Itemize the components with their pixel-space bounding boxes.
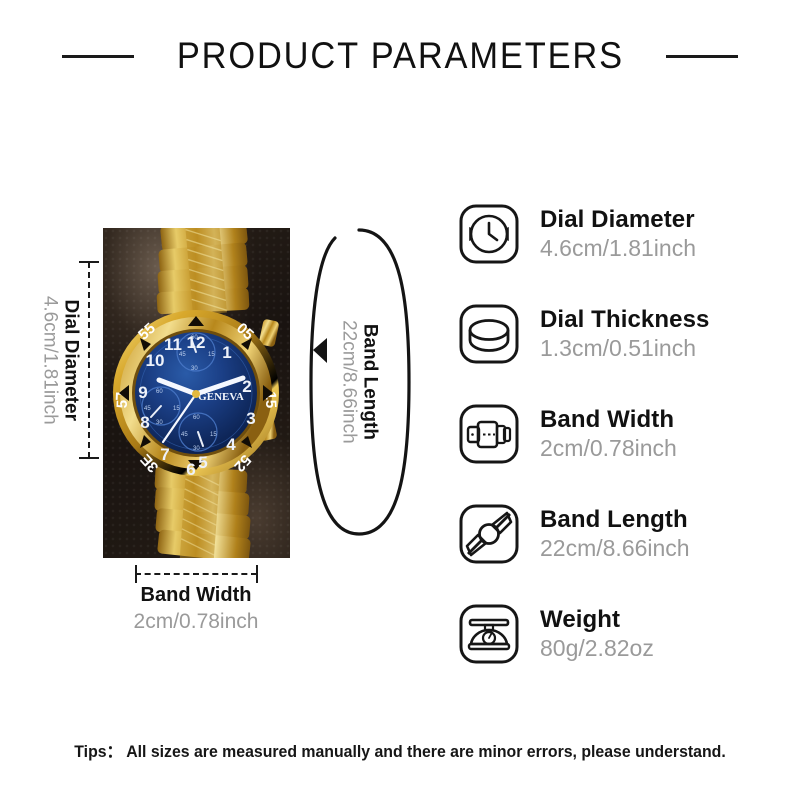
- spec-value: 80g/2.82oz: [540, 636, 654, 661]
- title-rule-right: [666, 55, 738, 58]
- spec-row-dial-thickness: Dial Thickness 1.3cm/0.51inch: [458, 296, 778, 372]
- band-width-cap-right: [256, 565, 258, 583]
- svg-text:6: 6: [186, 460, 195, 479]
- page-header: PRODUCT PARAMETERS: [0, 28, 800, 84]
- spec-value: 22cm/8.66inch: [540, 536, 690, 561]
- band-width-annotation-value: 2cm/0.78inch: [82, 609, 310, 634]
- spec-row-band-width: Band Width 2cm/0.78inch: [458, 396, 778, 472]
- spec-label: Dial Thickness: [540, 307, 709, 333]
- spec-label: Band Length: [540, 507, 690, 533]
- cylinder-icon: [458, 303, 520, 365]
- svg-text:3: 3: [246, 409, 255, 428]
- svg-text:12: 12: [187, 333, 206, 352]
- title-rule-left: [62, 55, 134, 58]
- svg-text:45: 45: [181, 432, 188, 438]
- svg-text:15: 15: [208, 352, 215, 358]
- dial-diameter-annotation-value: 4.6cm/1.81inch: [39, 296, 60, 425]
- svg-text:30: 30: [156, 420, 163, 426]
- specification-list: Dial Diameter 4.6cm/1.81inch Dial Thickn…: [458, 196, 778, 672]
- spec-row-band-length: Band Length 22cm/8.66inch: [458, 496, 778, 572]
- svg-text:4: 4: [226, 435, 236, 454]
- spec-label: Weight: [540, 607, 654, 633]
- svg-text:45: 45: [144, 406, 151, 412]
- svg-text:9: 9: [138, 383, 147, 402]
- svg-text:11: 11: [164, 335, 182, 354]
- watch-illustration: 55 05 15 52 3E 5⅂ 60451530 60: [103, 228, 290, 558]
- scale-icon: [458, 603, 520, 665]
- dial-diameter-annotation: Dial Diameter 4.6cm/1.81inch: [34, 262, 86, 458]
- svg-text:30: 30: [191, 366, 198, 372]
- spec-value: 1.3cm/0.51inch: [540, 336, 709, 361]
- watch-strap-icon: [458, 503, 520, 565]
- footer-tips: Tips： All sizes are measured manually an…: [16, 738, 784, 762]
- band-width-annotation-label: Band Width: [82, 583, 310, 607]
- page-title: PRODUCT PARAMETERS: [176, 35, 623, 77]
- svg-text:60: 60: [156, 389, 163, 395]
- band-width-annotation: Band Width 2cm/0.78inch: [82, 583, 310, 634]
- spec-label: Band Width: [540, 407, 677, 433]
- spec-value: 4.6cm/1.81inch: [540, 236, 696, 261]
- svg-text:7: 7: [160, 445, 169, 464]
- band-length-loop-arrow: [305, 222, 413, 542]
- svg-text:8: 8: [140, 413, 149, 432]
- product-photo: 55 05 15 52 3E 5⅂ 60451530 60: [103, 228, 290, 558]
- band-width-cap-left: [135, 565, 137, 583]
- spec-value: 2cm/0.78inch: [540, 436, 677, 461]
- spec-row-weight: Weight 80g/2.82oz: [458, 596, 778, 672]
- svg-text:15: 15: [173, 406, 180, 412]
- band-width-dimension-line: [135, 573, 257, 575]
- spec-label: Dial Diameter: [540, 207, 696, 233]
- svg-text:30: 30: [193, 446, 200, 452]
- svg-text:15: 15: [210, 432, 217, 438]
- clock-icon: [458, 203, 520, 265]
- spec-row-dial-diameter: Dial Diameter 4.6cm/1.81inch: [458, 196, 778, 272]
- dial-diameter-annotation-label: Dial Diameter: [60, 299, 81, 420]
- svg-text:1: 1: [222, 343, 231, 362]
- dial-diameter-dimension-line: [88, 262, 90, 458]
- svg-text:5: 5: [198, 453, 207, 472]
- band-clasp-icon: [458, 403, 520, 465]
- svg-text:10: 10: [146, 351, 165, 370]
- svg-text:60: 60: [193, 415, 200, 421]
